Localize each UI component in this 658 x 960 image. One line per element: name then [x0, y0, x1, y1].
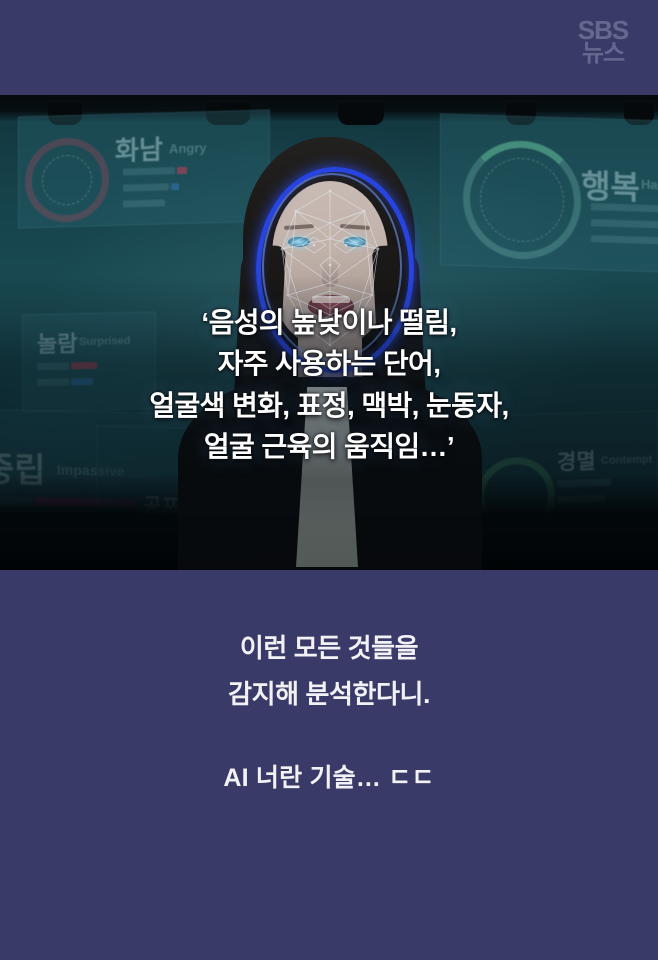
- caption-spacer: [0, 717, 658, 757]
- watermark-line-2: 뉴스: [582, 43, 624, 65]
- caption-line: 감지해 분석한다니.: [0, 672, 658, 718]
- quote-line: 얼굴 근육의 움직임…’: [0, 426, 658, 467]
- quote-line: 자주 사용하는 단어,: [0, 343, 658, 384]
- sbs-news-watermark: SBS 뉴스: [572, 14, 634, 70]
- caption-tagline: AI 너란 기술… ㄷㄷ: [0, 757, 658, 801]
- watermark-line-1: SBS: [578, 19, 628, 43]
- bottom-caption: 이런 모든 것들을 감지해 분석한다니. AI 너란 기술… ㄷㄷ: [0, 626, 658, 801]
- subtitle-quote: ‘음성의 높낮이나 떨림, 자주 사용하는 단어, 얼굴색 변화, 표정, 맥박…: [0, 302, 658, 468]
- caption-line: 이런 모든 것들을: [0, 626, 658, 672]
- news-card: SBS 뉴스 화남 Angry 놀람 Surprised: [0, 0, 658, 960]
- quote-line: 얼굴색 변화, 표정, 맥박, 눈동자,: [0, 385, 658, 426]
- quote-line: ‘음성의 높낮이나 떨림,: [0, 302, 658, 343]
